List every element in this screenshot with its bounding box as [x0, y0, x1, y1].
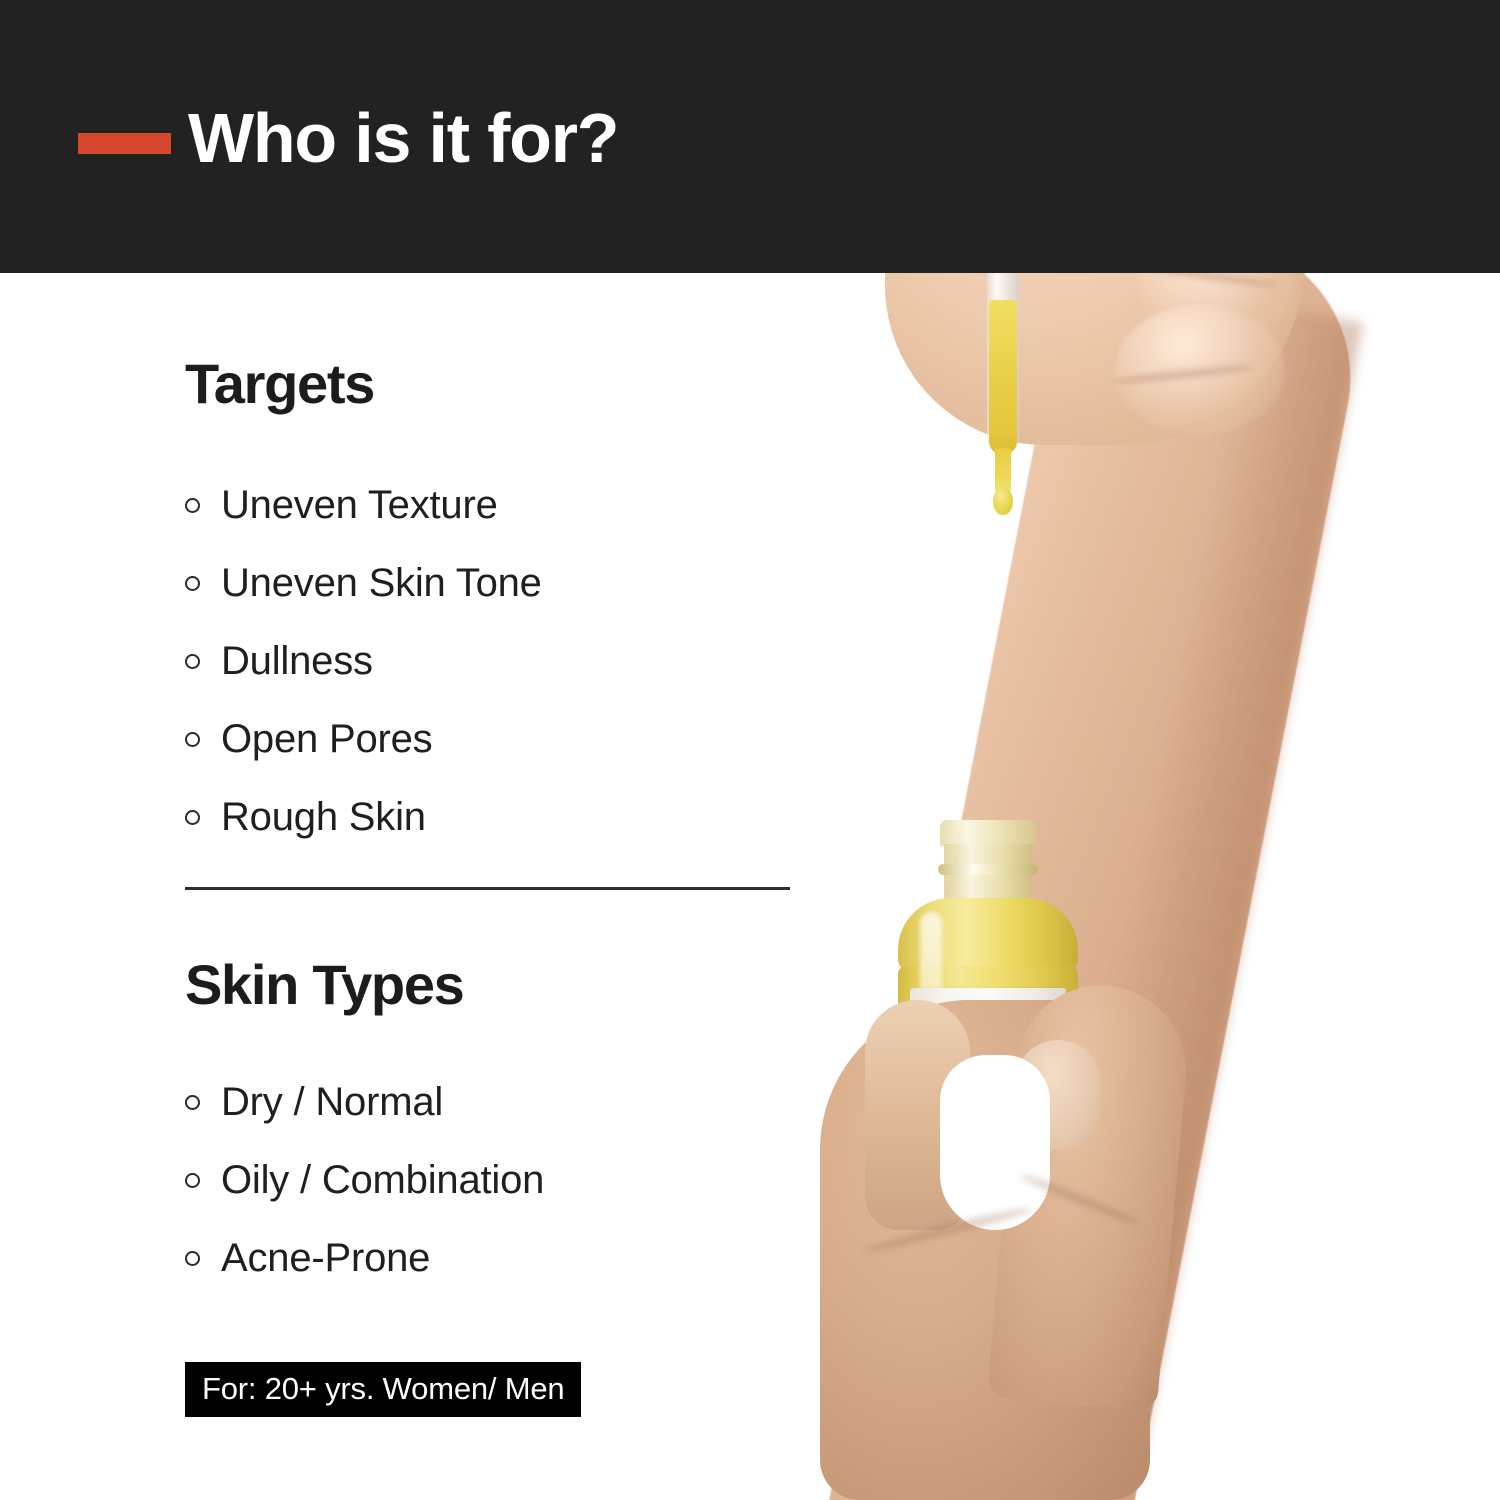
- list-item-label: Rough Skin: [221, 797, 426, 837]
- targets-list: Uneven Texture Uneven Skin Tone Dullness…: [185, 466, 542, 856]
- bottle-neck-ring: [938, 864, 1038, 875]
- list-item: Uneven Texture: [185, 466, 542, 544]
- serum-droplet: [993, 487, 1013, 515]
- skin-types-list: Dry / Normal Oily / Combination Acne-Pro…: [185, 1063, 544, 1297]
- ring-bullet-icon: [185, 576, 200, 591]
- list-item: Dullness: [185, 622, 542, 700]
- ring-bullet-icon: [185, 810, 200, 825]
- ring-bullet-icon: [185, 1095, 200, 1110]
- header-bar: Who is it for?: [0, 0, 1500, 273]
- palm-gap: [940, 1055, 1050, 1230]
- list-item-label: Open Pores: [221, 719, 432, 759]
- list-item: Uneven Skin Tone: [185, 544, 542, 622]
- audience-badge: For: 20+ yrs. Women/ Men: [185, 1362, 581, 1417]
- list-item-label: Oily / Combination: [221, 1160, 544, 1200]
- ring-bullet-icon: [185, 654, 200, 669]
- pipette-serum: [989, 300, 1017, 455]
- list-item-label: Uneven Texture: [221, 485, 498, 525]
- bottle-neck-top: [940, 820, 1036, 846]
- list-item: Oily / Combination: [185, 1141, 544, 1219]
- list-item: Dry / Normal: [185, 1063, 544, 1141]
- ring-bullet-icon: [185, 1251, 200, 1266]
- list-item-label: Dry / Normal: [221, 1082, 443, 1122]
- list-item-label: Dullness: [221, 641, 373, 681]
- list-item: Acne-Prone: [185, 1219, 544, 1297]
- ring-bullet-icon: [185, 732, 200, 747]
- section-divider: [185, 887, 790, 890]
- list-item-label: Uneven Skin Tone: [221, 563, 542, 603]
- ring-bullet-icon: [185, 1173, 200, 1188]
- ring-bullet-icon: [185, 498, 200, 513]
- section-heading-targets: Targets: [185, 356, 374, 412]
- list-item: Rough Skin: [185, 778, 542, 856]
- list-item-label: Acne-Prone: [221, 1238, 430, 1278]
- section-heading-skin-types: Skin Types: [185, 957, 464, 1013]
- infographic-page: AHA PHA BHA 32% FACE PEEL with 25% alpha…: [0, 0, 1500, 1500]
- accent-dash-icon: [78, 133, 171, 154]
- page-title: Who is it for?: [188, 103, 618, 173]
- list-item: Open Pores: [185, 700, 542, 778]
- content-column: Targets Uneven Texture Uneven Skin Tone …: [0, 273, 830, 1500]
